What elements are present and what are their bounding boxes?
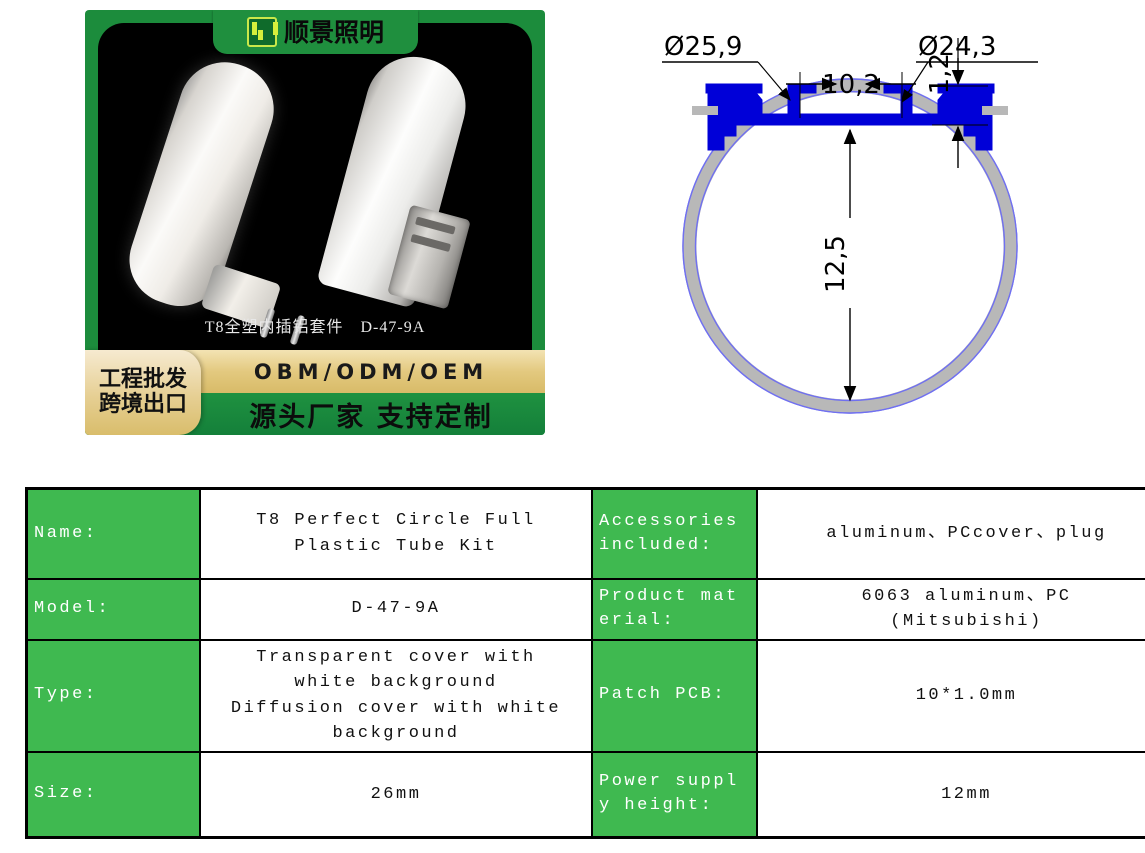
spec-value-accessories: aluminum、PCcover、plug [757,489,1145,579]
shunjing-y-logo-icon [247,17,277,47]
obm-odm-oem-label: OBM/ODM/OEM [205,350,537,393]
spec-label-accessories: Accessories included: [592,489,757,579]
product-photo-black-area: T8全塑内插铝套件 D-47-9A [98,23,532,350]
pcb-thickness-label: 1,2 [925,53,955,94]
spec-label-name: Name: [27,489,201,579]
spec-label-material: Product material: [592,579,757,640]
export-label: 跨境出口 [99,393,187,418]
spec-value-size: 26mm [200,752,592,838]
brand-name-label: 顺景照明 [284,20,384,45]
spec-value-model: D-47-9A [200,579,592,640]
spec-value-name: T8 Perfect Circle Full Plastic Tube Kit [200,489,592,579]
spec-label-model: Model: [27,579,201,640]
spec-value-patch-pcb: 10*1.0mm [757,640,1145,752]
outer-diameter-label: Ø25,9 [664,32,742,62]
table-row: Model: D-47-9A Product material: 6063 al… [27,579,1145,640]
table-row: Size: 26mm Power supply height: 12mm [27,752,1145,838]
promo-banner: OBM/ODM/OEM 源头厂家 支持定制 工程批发 跨境出口 [85,350,545,435]
spec-label-patch-pcb: Patch PCB: [592,640,757,752]
spec-value-power-supply-height: 12mm [757,752,1145,838]
product-photo-caption: T8全塑内插铝套件 D-47-9A [98,313,532,337]
factory-slogan-label: 源头厂家 支持定制 [205,393,537,435]
spec-label-size: Size: [27,752,201,838]
spec-value-type: Transparent cover with white background … [200,640,592,752]
product-photo: T8全塑内插铝套件 D-47-9A 顺景照明 OBM/ODM/OEM 源头厂家 … [85,10,545,435]
spec-value-material: 6063 aluminum、PC (Mitsubishi) [757,579,1145,640]
wholesale-export-tab: 工程批发 跨境出口 [85,350,201,435]
table-row: Type: Transparent cover with white backg… [27,640,1145,752]
pcb-width-label: 10,2 [822,70,880,100]
brand-logo: 顺景照明 [213,10,418,54]
cavity-depth-label: 12,5 [821,235,851,293]
specification-table: Name: T8 Perfect Circle Full Plastic Tub… [25,487,1145,839]
spec-label-type: Type: [27,640,201,752]
spec-label-power-supply-height: Power supply height: [592,752,757,838]
cross-section-technical-drawing: Ø25,9 Ø24,3 10,2 1,2 12,5 [640,18,1060,438]
table-row: Name: T8 Perfect Circle Full Plastic Tub… [27,489,1145,579]
wholesale-label: 工程批发 [99,368,187,393]
